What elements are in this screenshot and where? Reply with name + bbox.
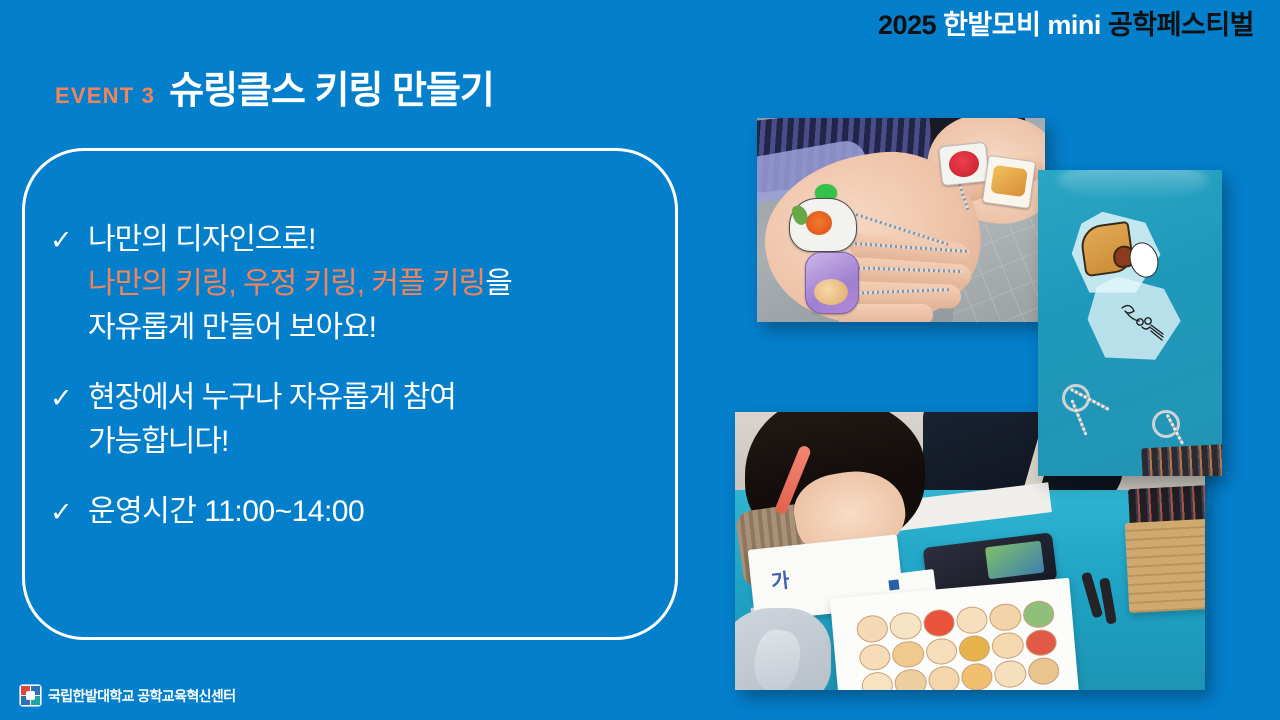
marker-pens (1141, 444, 1222, 476)
check-icon: ✓ (50, 376, 88, 420)
hanbat-univ-logo-icon (20, 685, 41, 706)
bullet-line: 현장에서 누구나 자유롭게 참여 (88, 381, 456, 414)
header-year: 2025 (878, 10, 936, 40)
bullet-line: 가능합니다! (88, 425, 228, 458)
header-brand: 한밭모비 mini (943, 10, 1101, 40)
photo-hand-keyrings (757, 118, 1045, 322)
bullet-line: 나만의 디자인으로! (88, 223, 315, 256)
bullet-line-accent: 나만의 키링, 우정 키링, 커플 키링 (88, 267, 485, 300)
event-title-row: EVENT 3 슈링클스 키링 만들기 (55, 72, 494, 110)
footer-branding: 국립한밭대학교 공학교육혁신센터 (20, 685, 236, 706)
check-icon: ✓ (50, 490, 88, 534)
bullet-list: ✓ 나만의 디자인으로! 나만의 키링, 우정 키링, 커플 키링을 자유롭게 … (50, 218, 670, 534)
photo-shrink-keyrings (1038, 170, 1222, 476)
slide-root: 2025 한밭모비 mini 공학페스티벌 EVENT 3 슈링클스 키링 만들… (0, 0, 1280, 720)
keyring-charm-purple (805, 252, 859, 314)
list-item: ✓ 나만의 디자인으로! 나만의 키링, 우정 키링, 커플 키링을 자유롭게 … (50, 218, 670, 350)
list-item: ✓ 운영시간 11:00~14:00 (50, 490, 670, 534)
list-item: ✓ 현장에서 누구나 자유롭게 참여 가능합니다! (50, 376, 670, 464)
bullet-text: 나만의 디자인으로! 나만의 키링, 우정 키링, 커플 키링을 자유롭게 만들… (88, 218, 512, 350)
line-doodle (1118, 302, 1166, 344)
character-stickers (851, 595, 1064, 690)
keyring-charm-red (938, 142, 990, 187)
festival-header-title: 2025 한밭모비 mini 공학페스티벌 (878, 12, 1254, 39)
event-tag: EVENT 3 (55, 85, 155, 107)
keyring-charm-yellow (982, 155, 1036, 209)
header-festival: 공학페스티벌 (1108, 10, 1254, 40)
keyring-charm-character (789, 198, 857, 252)
bullet-line: 자유롭게 만들어 보아요! (88, 311, 376, 344)
bullet-line-tail: 을 (485, 267, 512, 300)
check-icon: ✓ (50, 218, 88, 262)
plush-toy (735, 608, 831, 690)
operating-hours-text: 운영시간 11:00~14:00 (88, 490, 364, 534)
cardboard-box (1125, 517, 1205, 613)
footer-text: 국립한밭대학교 공학교육혁신센터 (48, 686, 236, 706)
bullet-text: 현장에서 누구나 자유롭게 참여 가능합니다! (88, 376, 456, 464)
page-title: 슈링클스 키링 만들기 (169, 72, 494, 110)
